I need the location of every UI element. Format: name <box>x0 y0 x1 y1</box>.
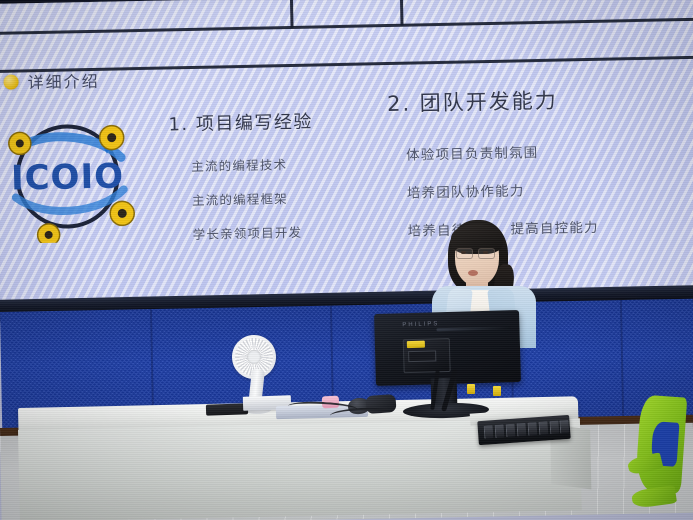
strip-socket[interactable] <box>538 421 548 435</box>
slide-section-tag: 详细介绍 <box>3 68 99 94</box>
slide-column-1: 1. 项目编写经验 主流的编程技术 主流的编程框架 学长亲领项目开发 <box>168 107 361 259</box>
monitor-brand-label: PHILIPS <box>402 321 439 328</box>
column-item: 培养团队协作能力 <box>407 177 649 202</box>
strip-socket[interactable] <box>484 425 494 439</box>
office-chair <box>628 396 693 520</box>
yellow-cable-clip <box>493 386 501 396</box>
column-item: 学长亲领项目开发 <box>192 221 360 243</box>
strip-socket[interactable] <box>506 424 516 438</box>
icoio-logo: ICOIO <box>0 109 141 244</box>
device-label <box>408 350 436 362</box>
glasses-lens <box>478 248 495 259</box>
strip-socket[interactable] <box>517 423 527 437</box>
slide-section-label: 详细介绍 <box>27 68 99 93</box>
column-heading: 1. 项目编写经验 <box>168 107 358 137</box>
strip-socket[interactable] <box>549 421 559 435</box>
strip-socket[interactable] <box>528 422 538 436</box>
smartphone <box>206 403 248 415</box>
strip-socket[interactable] <box>495 424 505 438</box>
philips-monitor: PHILIPS <box>375 312 520 422</box>
photo-scene: 详细介绍 ICOIO <box>0 0 693 520</box>
eye <box>461 251 466 254</box>
wall-panel-seam <box>620 300 625 435</box>
svg-text:ICOIO: ICOIO <box>11 156 125 198</box>
monitor-vent-slot <box>436 326 510 331</box>
column-item-list: 主流的编程技术 主流的编程框架 学长亲领项目开发 <box>191 153 361 243</box>
presentation-slide: 详细介绍 ICOIO <box>0 0 693 314</box>
strip-socket[interactable] <box>559 420 569 434</box>
monitor-rear-panel: PHILIPS <box>374 310 521 386</box>
column-item: 体验项目负责制氛围 <box>406 139 648 164</box>
mouth <box>468 270 478 276</box>
bullet-dot-icon <box>3 74 18 89</box>
glasses-lens <box>456 248 473 259</box>
eye <box>483 251 488 254</box>
column-item: 主流的编程框架 <box>192 187 360 209</box>
yellow-label-tag <box>407 341 425 348</box>
column-item: 主流的编程技术 <box>191 153 359 175</box>
chair-seat-edge <box>631 485 677 509</box>
yellow-cable-clip <box>467 384 475 394</box>
column-heading: 2. 团队开发能力 <box>387 83 648 118</box>
